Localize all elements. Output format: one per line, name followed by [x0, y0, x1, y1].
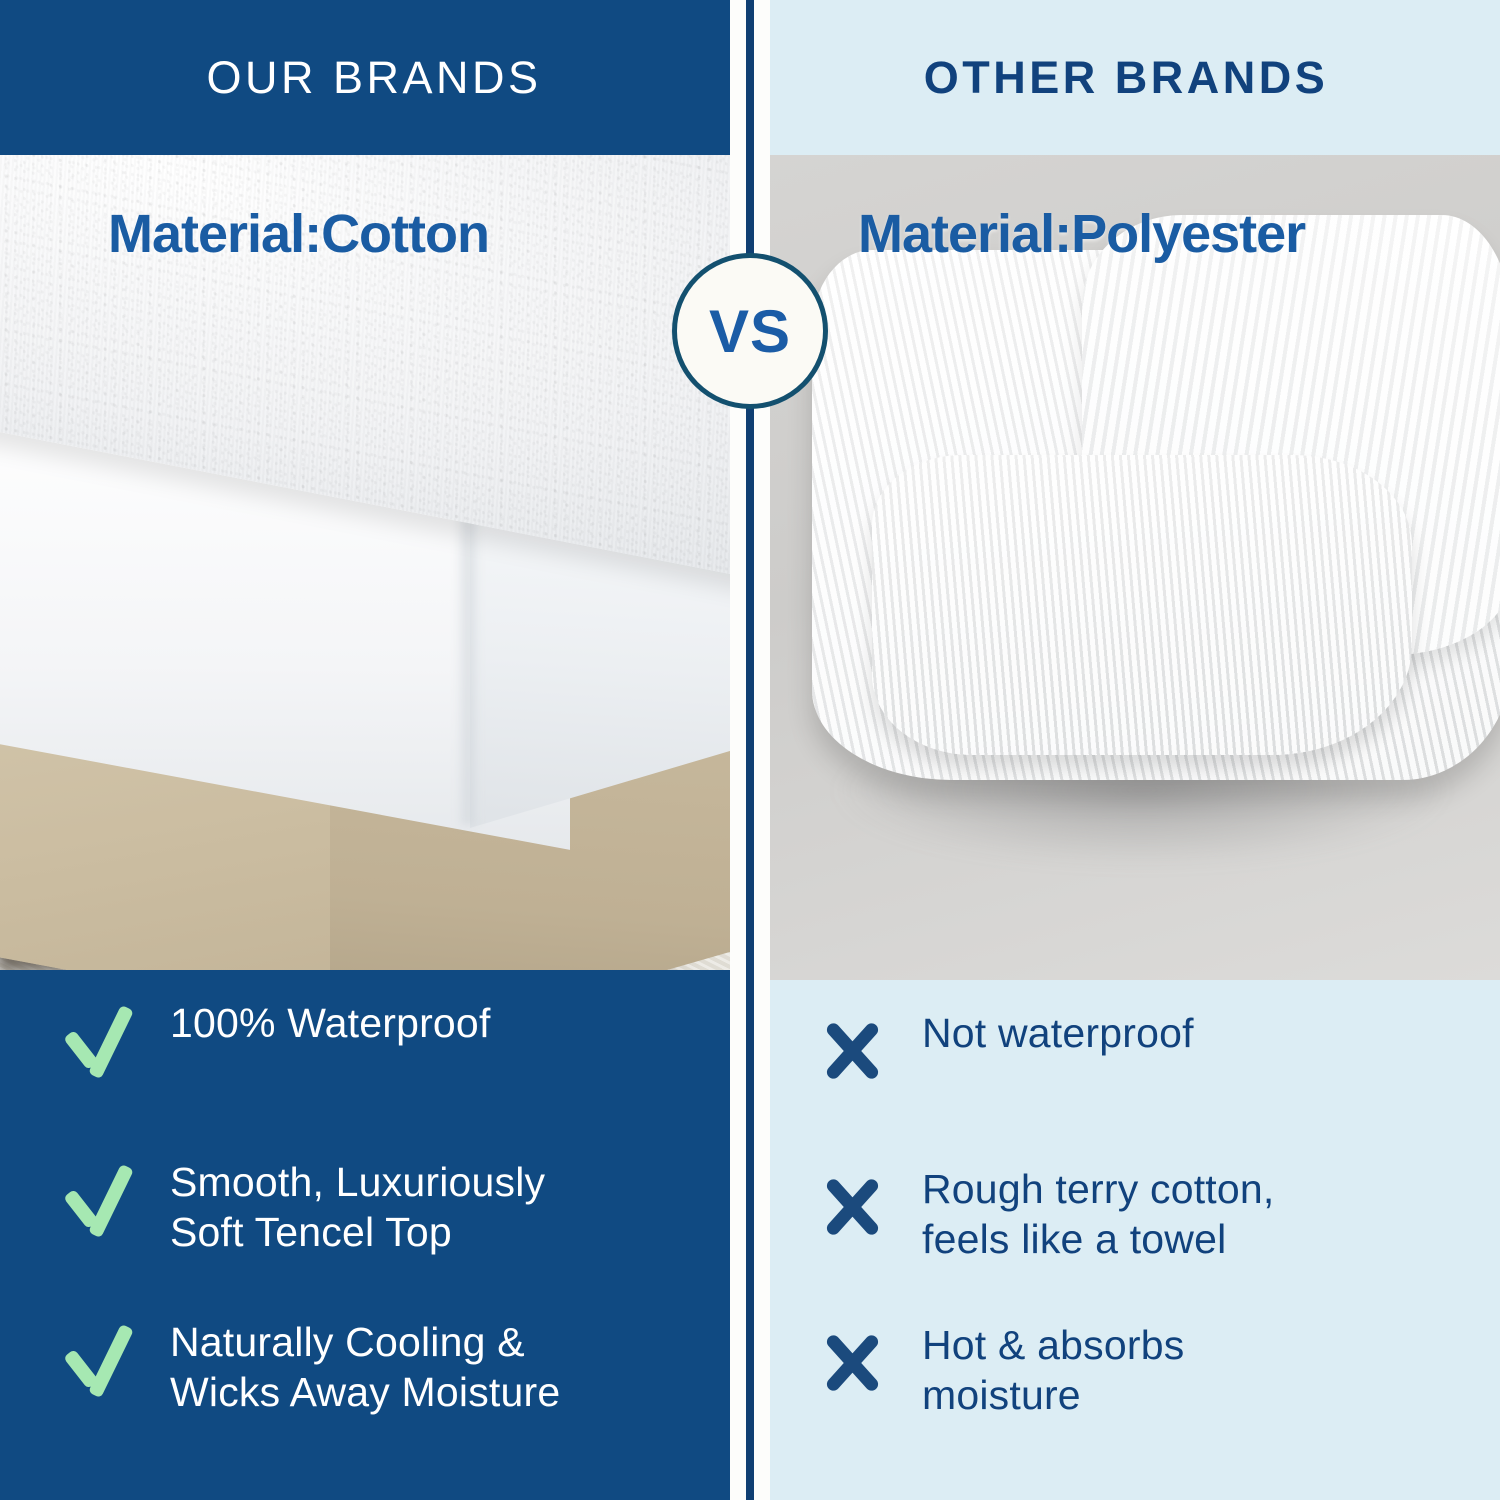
feature-text: 100% Waterproof: [170, 996, 491, 1048]
other-brands-title: OTHER BRANDS: [924, 52, 1329, 104]
x-icon: [814, 1324, 892, 1402]
divider-gutter-left: [730, 0, 746, 1500]
our-brands-panel: OUR BRANDS Material:Cotton 100% Waterpro…: [0, 0, 748, 1500]
feature-row: Hot & absorbs moisture: [814, 1318, 1460, 1474]
x-icon: [814, 1012, 892, 1090]
feature-text: Rough terry cotton, feels like a towel: [922, 1162, 1274, 1264]
other-brands-header: OTHER BRANDS: [752, 0, 1500, 155]
material-label-left: Material:Cotton: [108, 203, 489, 265]
material-label-right: Material:Polyester: [858, 203, 1305, 265]
our-brands-feature-list: 100% Waterproof Smooth, Luxuriously Soft…: [0, 970, 748, 1500]
feature-text: Naturally Cooling & Wicks Away Moisture: [170, 1315, 560, 1417]
check-icon: [62, 1321, 140, 1399]
other-brands-feature-list: Not waterproof Rough terry cotton, feels…: [752, 980, 1500, 1500]
feature-text: Not waterproof: [922, 1006, 1194, 1058]
other-brands-panel: OTHER BRANDS Material:Polyester Not wate…: [752, 0, 1500, 1500]
feature-row: Smooth, Luxuriously Soft Tencel Top: [62, 1155, 708, 1314]
our-brands-header: OUR BRANDS: [0, 0, 748, 155]
x-icon: [814, 1168, 892, 1246]
our-brands-title: OUR BRANDS: [206, 52, 541, 104]
divider-gutter-right: [754, 0, 770, 1500]
check-icon: [62, 1161, 140, 1239]
our-brands-product-photo: [0, 155, 748, 970]
feature-row: Not waterproof: [814, 1006, 1460, 1162]
feature-text: Hot & absorbs moisture: [922, 1318, 1184, 1420]
our-brands-feature-band: 100% Waterproof Smooth, Luxuriously Soft…: [0, 970, 748, 1500]
feature-row: Rough terry cotton, feels like a towel: [814, 1162, 1460, 1318]
vs-label: VS: [709, 297, 791, 366]
feature-text: Smooth, Luxuriously Soft Tencel Top: [170, 1155, 545, 1257]
feature-row: Naturally Cooling & Wicks Away Moisture: [62, 1315, 708, 1474]
other-brands-product-photo: [752, 155, 1500, 980]
comparison-infographic: OUR BRANDS Material:Cotton 100% Waterpro…: [0, 0, 1500, 1500]
crumpled-sheet-front: [872, 455, 1412, 755]
vs-badge: VS: [672, 253, 828, 409]
other-brands-feature-band: Not waterproof Rough terry cotton, feels…: [752, 980, 1500, 1500]
vertical-divider: [746, 0, 754, 1500]
feature-row: 100% Waterproof: [62, 996, 708, 1155]
check-icon: [62, 1002, 140, 1080]
